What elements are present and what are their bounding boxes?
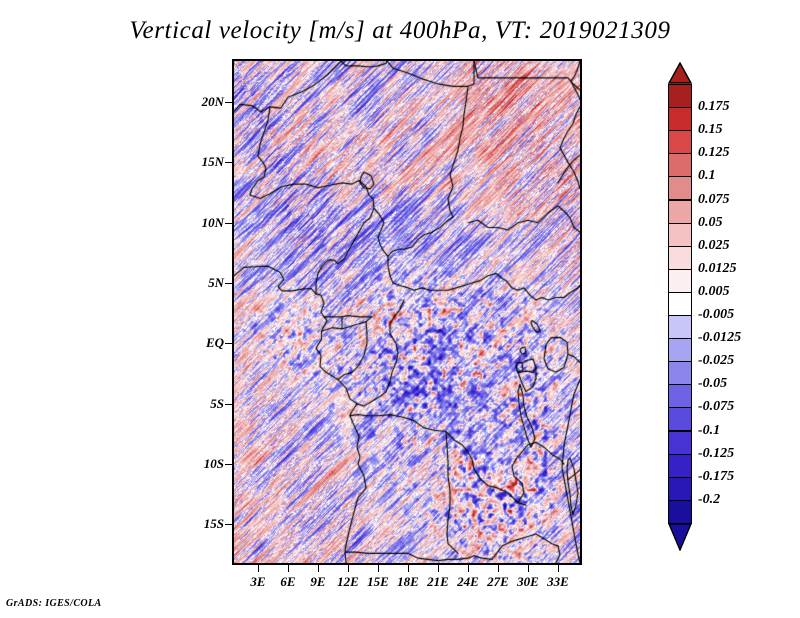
colorbar-swatch [668,292,692,316]
colorbar-low-cap [668,523,692,551]
y-axis-tick [225,343,232,344]
colorbar-swatch [668,246,692,270]
x-axis-tick [318,565,319,572]
y-axis-label: 10S [186,456,224,472]
colorbar-high-cap [668,62,692,84]
colorbar-tick-label: 0.0125 [698,261,737,277]
colorbar: 0.1750.150.1250.10.0750.050.0250.01250.0… [668,62,800,567]
y-axis-tick [225,223,232,224]
colorbar-swatch [668,431,692,455]
y-axis-tick [225,162,232,163]
colorbar-swatch [668,223,692,247]
x-axis-label: 27E [487,574,509,590]
colorbar-swatch [668,454,692,478]
x-axis-tick [528,565,529,572]
colorbar-tick-label: -0.025 [698,353,734,369]
footer-credit: GrADS: IGES/COLA [6,598,102,609]
colorbar-tick-label: 0.1 [698,168,716,184]
colorbar-tick-label: 0.15 [698,122,723,138]
colorbar-tick-label: -0.1 [698,423,720,439]
y-axis-label: EQ [186,335,224,351]
colorbar-swatch [668,338,692,362]
colorbar-swatch [668,200,692,224]
colorbar-swatch [668,107,692,131]
colorbar-swatch [668,407,692,431]
colorbar-swatch [668,477,692,501]
colorbar-swatch [668,84,692,108]
y-axis-tick [225,102,232,103]
colorbar-tick-label: -0.125 [698,446,734,462]
colorbar-swatch [668,361,692,385]
y-axis-label: 5N [186,275,224,291]
colorbar-tick-label: 0.125 [698,145,730,161]
colorbar-tick-label: -0.175 [698,469,734,485]
colorbar-swatch [668,130,692,154]
x-axis-label: 21E [427,574,449,590]
colorbar-swatch [668,269,692,293]
colorbar-swatch [668,315,692,339]
x-axis-label: 33E [547,574,569,590]
colorbar-tick-label: -0.2 [698,492,720,508]
x-axis-label: 6E [280,574,295,590]
colorbar-tick-label: 0.005 [698,284,730,300]
y-axis-label: 5S [186,396,224,412]
y-axis-label: 20N [186,94,224,110]
colorbar-swatch [668,384,692,408]
y-axis-label: 15S [186,516,224,532]
map-boundaries-overlay [234,61,580,563]
x-axis-label: 9E [310,574,325,590]
y-axis-tick [225,464,232,465]
colorbar-tick-label: -0.005 [698,307,734,323]
colorbar-tick-label: -0.05 [698,376,727,392]
colorbar-swatch [668,176,692,200]
y-axis-tick [225,524,232,525]
x-axis-label: 3E [250,574,265,590]
x-axis-label: 30E [517,574,539,590]
y-axis-tick [225,404,232,405]
map-plot-panel [232,59,582,565]
colorbar-tick-label: 0.025 [698,238,730,254]
x-axis-tick [438,565,439,572]
y-axis-tick [225,283,232,284]
x-axis-tick [558,565,559,572]
x-axis-label: 18E [397,574,419,590]
page-title: Vertical velocity [m/s] at 400hPa, VT: 2… [0,17,800,45]
x-axis-tick [288,565,289,572]
y-axis-label: 15N [186,154,224,170]
colorbar-tick-label: 0.175 [698,99,730,115]
colorbar-tick-label: 0.075 [698,192,730,208]
x-axis-tick [258,565,259,572]
x-axis-label: 12E [337,574,359,590]
x-axis-label: 15E [367,574,389,590]
x-axis-tick [378,565,379,572]
x-axis-tick [348,565,349,572]
colorbar-tick-label: 0.05 [698,215,723,231]
colorbar-swatch [668,153,692,177]
colorbar-tick-label: -0.0125 [698,330,741,346]
x-axis-tick [468,565,469,572]
x-axis-label: 24E [457,574,479,590]
colorbar-tick-label: -0.075 [698,399,734,415]
x-axis-tick [498,565,499,572]
y-axis-label: 10N [186,215,224,231]
colorbar-swatch [668,500,692,524]
x-axis-tick [408,565,409,572]
grads-plot-page: Vertical velocity [m/s] at 400hPa, VT: 2… [0,0,800,618]
